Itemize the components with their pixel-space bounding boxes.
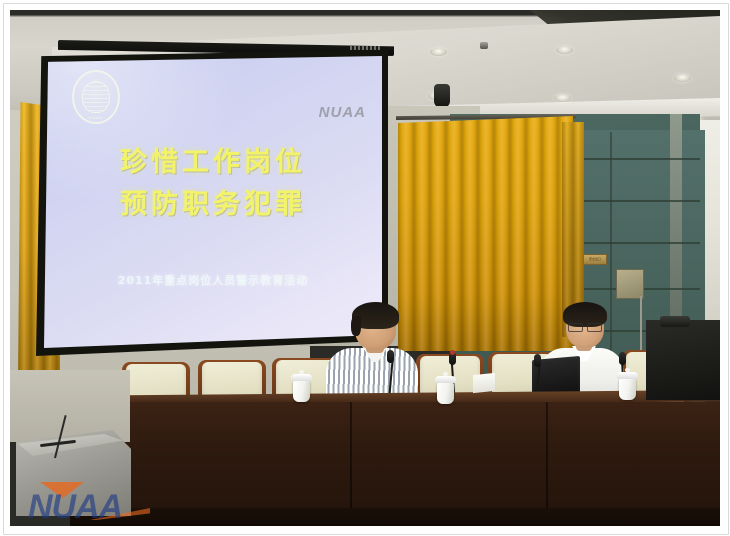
microphone-head <box>619 352 626 365</box>
slide-title-line-2: 预防职务犯罪 <box>44 184 382 226</box>
slide-brand-text: NUAA <box>319 104 366 121</box>
hair-side <box>351 316 361 336</box>
downlight-icon <box>556 46 573 54</box>
nuaa-emblem-icon: NUAA <box>72 70 120 124</box>
conference-room-photograph: 安全出口 NUAA NUAA 珍惜工作岗位 预防职务犯 <box>10 10 720 526</box>
ceiling-speaker-icon <box>434 84 450 108</box>
microphone-indicator <box>450 350 455 355</box>
projection-screen: NUAA NUAA 珍惜工作岗位 预防职务犯罪 2011年重点岗位人员警示教育活… <box>36 40 388 358</box>
microphone-head <box>534 354 541 367</box>
table-panel-seam <box>546 402 548 518</box>
teacup <box>437 382 454 404</box>
exit-sign: 安全出口 <box>583 254 607 265</box>
desk-telephone <box>660 316 690 327</box>
stack-of-papers <box>473 373 495 393</box>
downlight-icon <box>674 74 691 82</box>
downlight-icon <box>554 94 571 102</box>
photo-frame: 安全出口 NUAA NUAA 珍惜工作岗位 预防职务犯 <box>0 0 730 536</box>
nuaa-emblem-inner <box>82 81 110 113</box>
table-base-shadow <box>70 508 720 526</box>
eyeglasses-icon <box>568 323 602 330</box>
ceiling-sprinkler-icon <box>480 42 488 49</box>
table-panel-seam <box>350 402 352 518</box>
screen-case-label <box>350 46 380 50</box>
microphone-head <box>387 350 394 363</box>
nuaa-emblem-caption: NUAA <box>74 115 118 120</box>
teacup-lid <box>435 376 456 383</box>
teacup-lid <box>291 374 312 381</box>
teacup <box>619 378 636 400</box>
presentation-slide: NUAA NUAA 珍惜工作岗位 预防职务犯罪 2011年重点岗位人员警示教育活… <box>44 56 382 348</box>
slide-subtitle: 2011年重点岗位人员警示教育活动 <box>44 272 382 288</box>
panel-seam <box>610 132 612 364</box>
downlight-icon <box>430 48 447 56</box>
teacup-knob <box>625 368 630 372</box>
slide-title: 珍惜工作岗位 预防职务犯罪 <box>44 142 382 226</box>
teacup <box>293 380 310 402</box>
teacup-knob <box>443 372 448 376</box>
slide-title-line-1: 珍惜工作岗位 <box>44 142 382 184</box>
wall-mounted-panel <box>616 269 644 299</box>
conference-table-front <box>106 402 720 518</box>
dark-equipment-cabinet <box>646 320 720 400</box>
teacup-knob <box>299 370 304 374</box>
teacup-lid <box>617 372 638 379</box>
gold-curtain-center <box>398 116 573 351</box>
